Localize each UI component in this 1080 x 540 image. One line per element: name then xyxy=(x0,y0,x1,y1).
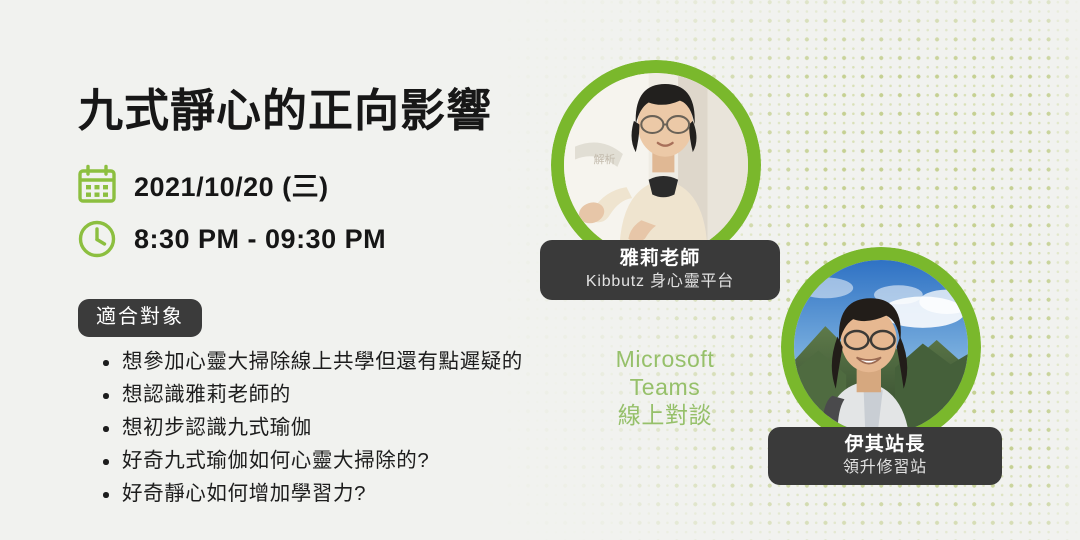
list-item: 好奇九式瑜伽如何心靈大掃除的? xyxy=(120,451,523,472)
platform-line-1: Microsoft xyxy=(586,345,744,373)
portrait-image: 解析 xyxy=(564,73,748,257)
time-row: 8:30 PM - 09:30 PM xyxy=(76,218,386,260)
audience-badge: 適合對象 xyxy=(78,299,202,337)
list-item: 想參加心靈大掃除線上共學但還有點遲疑的 xyxy=(120,352,523,373)
speaker-name: 雅莉老師 xyxy=(540,248,780,270)
speaker-photo-teacher: 解析 xyxy=(551,60,761,270)
nameplate-host: 伊其站長 領升修習站 xyxy=(768,427,1002,485)
platform-label: Microsoft Teams 線上對談 xyxy=(586,345,744,429)
audience-list: 想參加心靈大掃除線上共學但還有點遲疑的 想認識雅莉老師的 想初步認識九式瑜伽 好… xyxy=(98,352,523,517)
date-row: 2021/10/20 (三) xyxy=(76,163,329,205)
event-time: 8:30 PM - 09:30 PM xyxy=(134,224,386,255)
webinar-poster: 九式靜心的正向影響 2021/10/20 (三) xyxy=(0,0,1080,540)
platform-line-3: 線上對談 xyxy=(586,401,744,429)
event-date: 2021/10/20 (三) xyxy=(134,165,329,204)
list-item: 想認識雅莉老師的 xyxy=(120,385,523,406)
clock-icon xyxy=(76,218,118,260)
portrait-image xyxy=(794,260,968,434)
svg-text:解析: 解析 xyxy=(593,152,615,166)
speaker-photo-host xyxy=(781,247,981,447)
platform-line-2: Teams xyxy=(586,373,744,401)
page-title: 九式靜心的正向影響 xyxy=(78,74,492,139)
speaker-name: 伊其站長 xyxy=(768,434,1002,456)
nameplate-teacher: 雅莉老師 Kibbutz 身心靈平台 xyxy=(540,240,780,300)
list-item: 好奇靜心如何增加學習力? xyxy=(120,484,523,505)
speaker-organization: Kibbutz 身心靈平台 xyxy=(540,272,780,291)
list-item: 想初步認識九式瑜伽 xyxy=(120,418,523,439)
calendar-icon xyxy=(76,163,118,205)
speaker-organization: 領升修習站 xyxy=(768,458,1002,477)
